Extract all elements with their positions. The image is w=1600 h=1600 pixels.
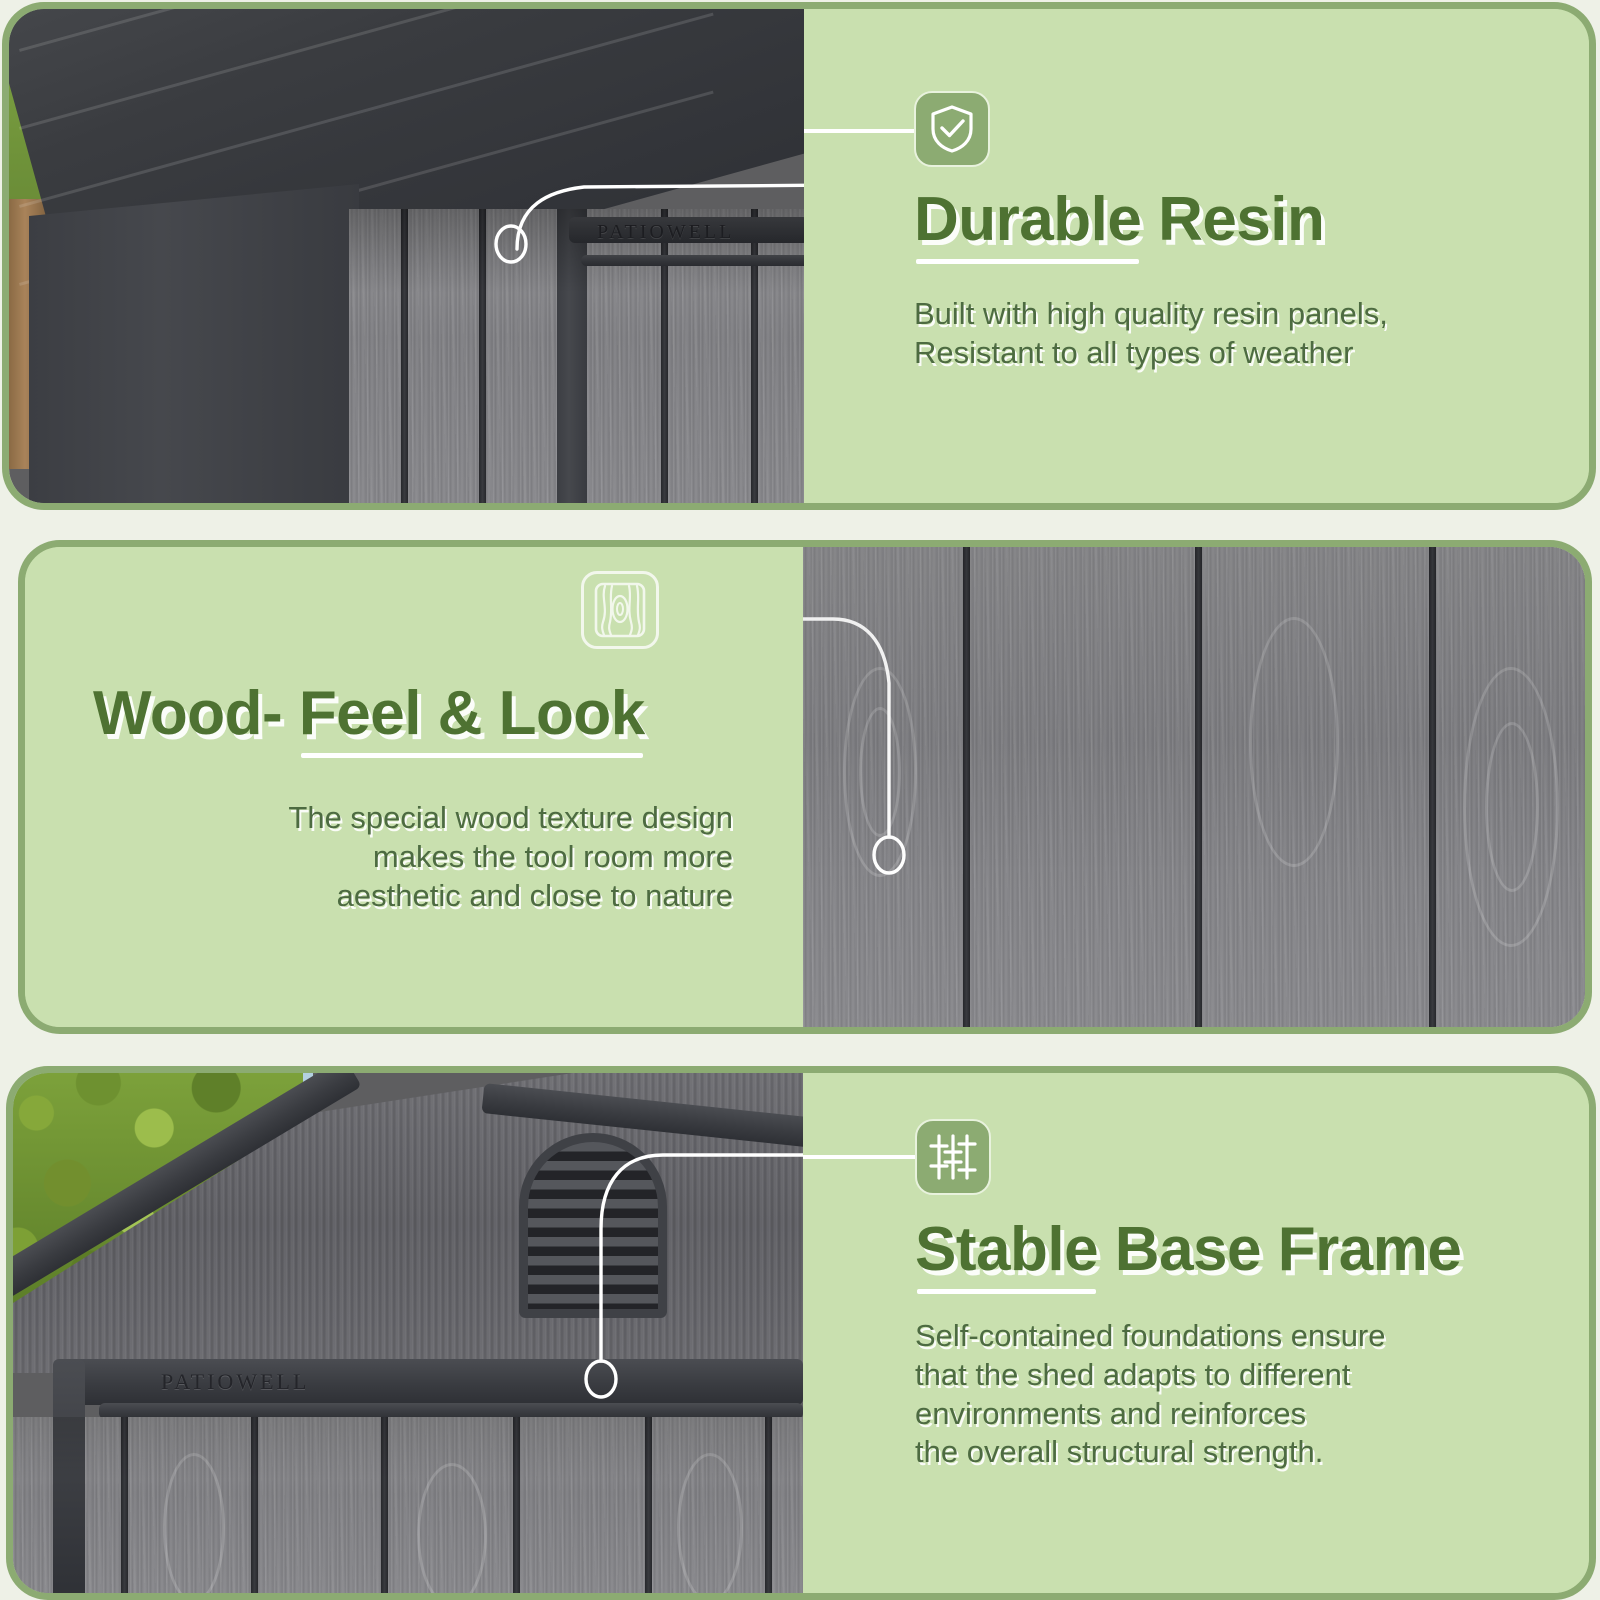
infographic-root: PATIOWELL [0,0,1600,1600]
feature-title-wood-feel-look: Wood- Feel & Look [93,681,645,746]
shed-vent [519,1133,667,1318]
title-underlined-segment: Stable [915,1217,1098,1282]
feature-body-durable-resin: Built with high quality resin panels, Re… [914,295,1554,373]
feature-card-wood-feel-look: Wood- Feel & Look The special wood textu… [18,540,1592,1034]
feature-text-wood-feel-look: Wood- Feel & Look The special wood textu… [25,547,803,1027]
feature-body-stable-base-frame: Self-contained foundations ensure that t… [915,1317,1565,1472]
title-underlined-segment: Durable [914,187,1141,252]
callout-connector-3 [803,1155,915,1159]
title-rest-segment: Base Frame [1098,1215,1461,1284]
feature-image-durable-resin: PATIOWELL [9,9,804,503]
feature-body-wood-feel-look: The special wood texture design makes th… [113,799,733,915]
feature-text-durable-resin: Durable Resin Built with high quality re… [804,9,1589,503]
feature-card-stable-base-frame: PATIOWELL [6,1066,1596,1600]
brand-embossed-label-3: PATIOWELL [161,1369,309,1395]
feature-image-stable-base-frame: PATIOWELL [13,1073,803,1593]
feature-text-stable-base-frame: Stable Base Frame Self-contained foundat… [803,1073,1589,1593]
feature-card-durable-resin: PATIOWELL [2,2,1596,510]
sliders-icon [915,1119,991,1195]
feature-image-wood-feel-look [803,547,1585,1027]
feature-title-stable-base-frame: Stable Base Frame [915,1217,1461,1282]
title-rest-segment: Resin [1141,185,1324,254]
callout-connector-1 [804,129,914,133]
title-underlined-segment: Feel & Look [299,681,645,746]
title-prefix-segment: Wood- [93,679,299,748]
feature-title-durable-resin: Durable Resin [914,187,1324,252]
shield-check-icon [914,91,990,167]
wood-grain-icon [581,571,659,649]
